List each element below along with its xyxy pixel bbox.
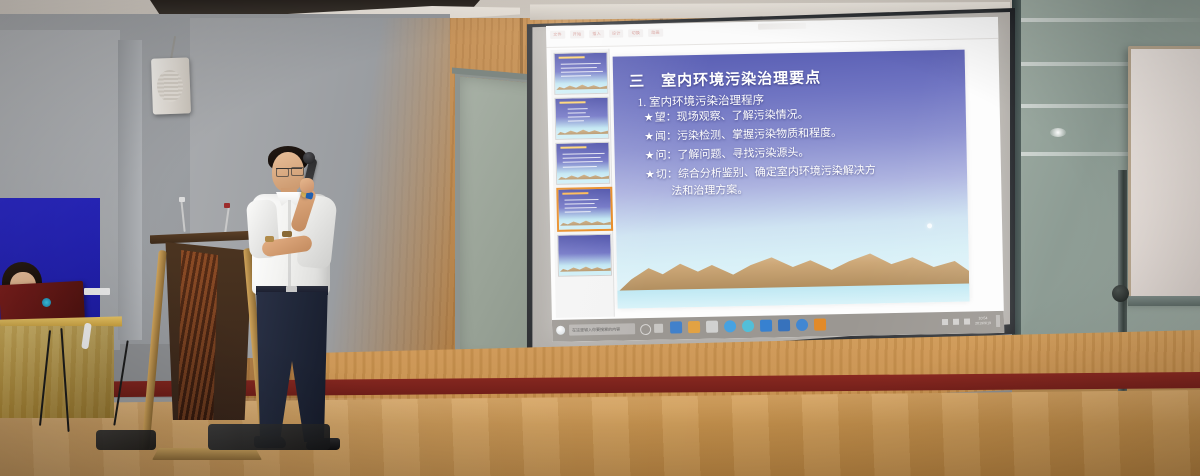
- taskbar-icon-7[interactable]: [778, 319, 790, 331]
- bullet-continuation: 法和治理方案。: [671, 180, 957, 198]
- glasses-icon: [276, 168, 302, 176]
- quick-access-toolbar[interactable]: [758, 23, 806, 30]
- star-icon: ★: [645, 169, 655, 181]
- taskbar-icon-6[interactable]: [760, 320, 772, 332]
- slide-thumbnail-rail[interactable]: [550, 49, 614, 318]
- thumbnail-sea-band: [555, 89, 607, 94]
- star-icon: ★: [645, 150, 655, 162]
- sun-icon: [927, 223, 932, 228]
- projected-desktop: 文件 开始 插入 设计 切换 动画: [546, 17, 1004, 342]
- wall-column: [118, 40, 142, 340]
- slide-bullet: ★切：综合分析鉴别、确定室内环境污染解决方 法和治理方案。: [645, 163, 958, 199]
- current-slide[interactable]: 三 室内环境污染治理要点 1. 室内环境污染治理程序 ★望：现场观察、了解污染情…: [613, 50, 970, 309]
- lectern-mic-head-right: [224, 203, 230, 208]
- thumbnail-title-bar: [559, 56, 585, 59]
- cortana-icon[interactable]: [640, 324, 651, 335]
- taskbar-icon-4[interactable]: [724, 320, 736, 332]
- ribbon-tab-insert[interactable]: 插入: [589, 30, 604, 38]
- task-view-icon[interactable]: [654, 324, 663, 333]
- star-icon: ★: [644, 112, 654, 124]
- bullet-label: 闻: [655, 131, 666, 143]
- search-placeholder: 在这里输入你要搜索的内容: [572, 326, 620, 333]
- bullet-text: ：现场观察、了解污染情况。: [666, 109, 809, 124]
- bullet-label: 问: [655, 150, 666, 162]
- taskbar-clock[interactable]: 10:54 2019/9/19: [975, 316, 991, 326]
- thumbnail-text-line: [565, 211, 591, 213]
- thumbnail-text-line: [563, 153, 605, 155]
- thumbnail-text-line: [561, 63, 601, 65]
- bullet-label: 切: [656, 169, 667, 181]
- thumbnail-title-bar: [560, 101, 586, 104]
- slide-title: 三 室内环境污染治理要点: [629, 64, 949, 91]
- taskbar-icon-5[interactable]: [742, 320, 754, 332]
- slide-bullet: ★问：了解问题、寻找污染源头。: [645, 144, 957, 163]
- bullet-text: ：了解问题、寻找污染源头。: [666, 147, 809, 162]
- thumbnail-text-line: [563, 157, 601, 159]
- show-desktop-button[interactable]: [996, 315, 1000, 327]
- taskbar-icon-1[interactable]: [670, 321, 682, 333]
- desk-shading: [0, 326, 114, 418]
- tray-icon-2[interactable]: [953, 319, 959, 325]
- presenter-hand: [300, 178, 314, 193]
- thumbnail-text-line: [563, 161, 603, 163]
- thumbnail-text-line: [564, 199, 598, 201]
- ribbon-tab-file[interactable]: 文件: [550, 31, 565, 39]
- slide-thumbnail[interactable]: [554, 97, 609, 140]
- taskbar-icon-powerpoint[interactable]: [814, 318, 826, 330]
- ribbon-tab-transitions[interactable]: 切换: [629, 29, 644, 37]
- thumbnail-text-line: [563, 166, 597, 168]
- lectern-front-panel: [178, 250, 218, 420]
- thumbnail-text-line: [568, 112, 586, 114]
- whiteboard: [1128, 46, 1200, 302]
- speaker-grill: [156, 70, 183, 103]
- thumbnail-sea-band: [559, 271, 611, 276]
- star-icon: ★: [644, 131, 654, 143]
- slide-thumbnail-selected[interactable]: [556, 187, 613, 232]
- whiteboard-adjust-knob[interactable]: [1112, 285, 1129, 302]
- glass-reflection: [1018, 18, 1200, 22]
- ribbon-tab-animations[interactable]: 动画: [648, 29, 663, 37]
- lectern-mic-head-left: [179, 197, 185, 202]
- thumbnail-sea-band: [557, 179, 609, 184]
- bullet-label: 望: [655, 112, 666, 124]
- taskbar-search-input[interactable]: 在这里输入你要搜索的内容: [569, 323, 635, 335]
- laptop-logo-icon: [42, 298, 51, 307]
- ribbon-tab-list: 文件 开始 插入 设计 切换 动画: [550, 29, 663, 39]
- thumbnail-text-line: [568, 120, 584, 122]
- taskbar-icon-2[interactable]: [688, 321, 700, 333]
- beaded-bracelet: [265, 236, 274, 242]
- start-button-icon[interactable]: [556, 326, 565, 335]
- wall-speaker-icon: [151, 57, 191, 114]
- wristwatch-icon: [282, 231, 292, 237]
- floor-equipment: [96, 430, 156, 450]
- thumbnail-text-line: [561, 71, 603, 73]
- taskbar-icon-3[interactable]: [706, 321, 718, 333]
- whiteboard-tray: [1128, 296, 1200, 306]
- thumbnail-text-line: [568, 108, 588, 110]
- glass-glint: [1050, 128, 1066, 137]
- slide-bullet: ★闻：污染检测、掌握污染物质和程度。: [644, 125, 956, 144]
- thumbnail-text-line: [565, 207, 597, 209]
- ribbon-tab-home[interactable]: 开始: [570, 30, 585, 38]
- power-strip: [84, 288, 110, 295]
- lecture-hall-photo: 文件 开始 插入 设计 切换 动画: [0, 0, 1200, 476]
- floor-equipment: [208, 424, 330, 450]
- thumbnail-text-line: [561, 75, 591, 77]
- bullet-text: ：污染检测、掌握污染物质和程度。: [666, 127, 842, 143]
- system-tray[interactable]: 10:54 2019/9/19: [942, 315, 1000, 328]
- thumbnail-sea-band: [559, 225, 611, 230]
- slide-thumbnail[interactable]: [554, 52, 609, 95]
- thumbnail-text-line: [568, 116, 590, 118]
- slide-thumbnail[interactable]: [557, 234, 612, 277]
- taskbar-icon-8[interactable]: [796, 319, 808, 331]
- thumbnail-sea-band: [556, 134, 608, 139]
- thumbnail-title-bar: [562, 192, 588, 195]
- slide-subtitle: 1. 室内环境污染治理程序: [637, 92, 764, 111]
- bullet-text: ：综合分析鉴别、确定室内环境污染解决方: [667, 165, 876, 181]
- thumbnail-title-bar: [560, 146, 586, 149]
- thumbnail-text-line: [561, 67, 597, 69]
- thumbnail-text-line: [565, 203, 595, 205]
- slide-bullet-list: ★望：现场观察、了解污染情况。 ★闻：污染检测、掌握污染物质和程度。 ★问：了解…: [644, 106, 958, 205]
- slide-thumbnail[interactable]: [555, 142, 610, 185]
- tray-icon-3[interactable]: [964, 319, 970, 325]
- tray-icon-1[interactable]: [942, 319, 948, 325]
- ribbon-tab-design[interactable]: 设计: [609, 29, 624, 37]
- taskbar-pinned-icons[interactable]: [670, 318, 826, 333]
- clock-date: 2019/9/19: [975, 321, 991, 326]
